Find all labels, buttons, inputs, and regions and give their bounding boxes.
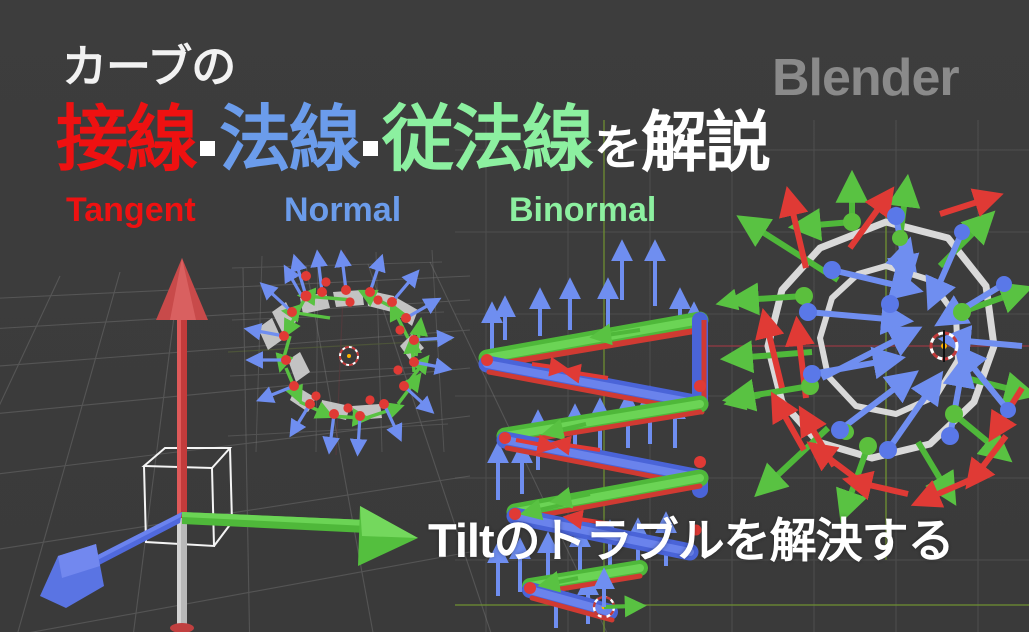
subtitle-normal: Normal [284,193,401,227]
main-title-line: 接線 法線 従法線 を 解説 [56,104,769,176]
subtitle-binormal: Binormal [509,193,656,227]
cursor-3d-right [931,330,957,362]
title-separator-square-1 [200,141,215,156]
subtitle-tangent: Tangent [66,193,196,227]
title-segment-binormal: 従法線 [382,104,592,176]
title-segment-normal: 法線 [219,104,359,176]
thumbnail-canvas: カーブの Blender 接線 法線 従法線 を 解説 Tangent Norm… [0,0,1029,632]
title-segment-tangent: 接線 [56,104,196,176]
title-separator-square-2 [363,141,378,156]
bottom-caption: Tiltのトラブルを解決する [428,517,954,564]
title-particle: を [592,125,641,176]
brand-label: Blender [772,52,959,104]
title-prefix: カーブの [62,44,235,89]
title-verb: 解説 [641,109,769,176]
